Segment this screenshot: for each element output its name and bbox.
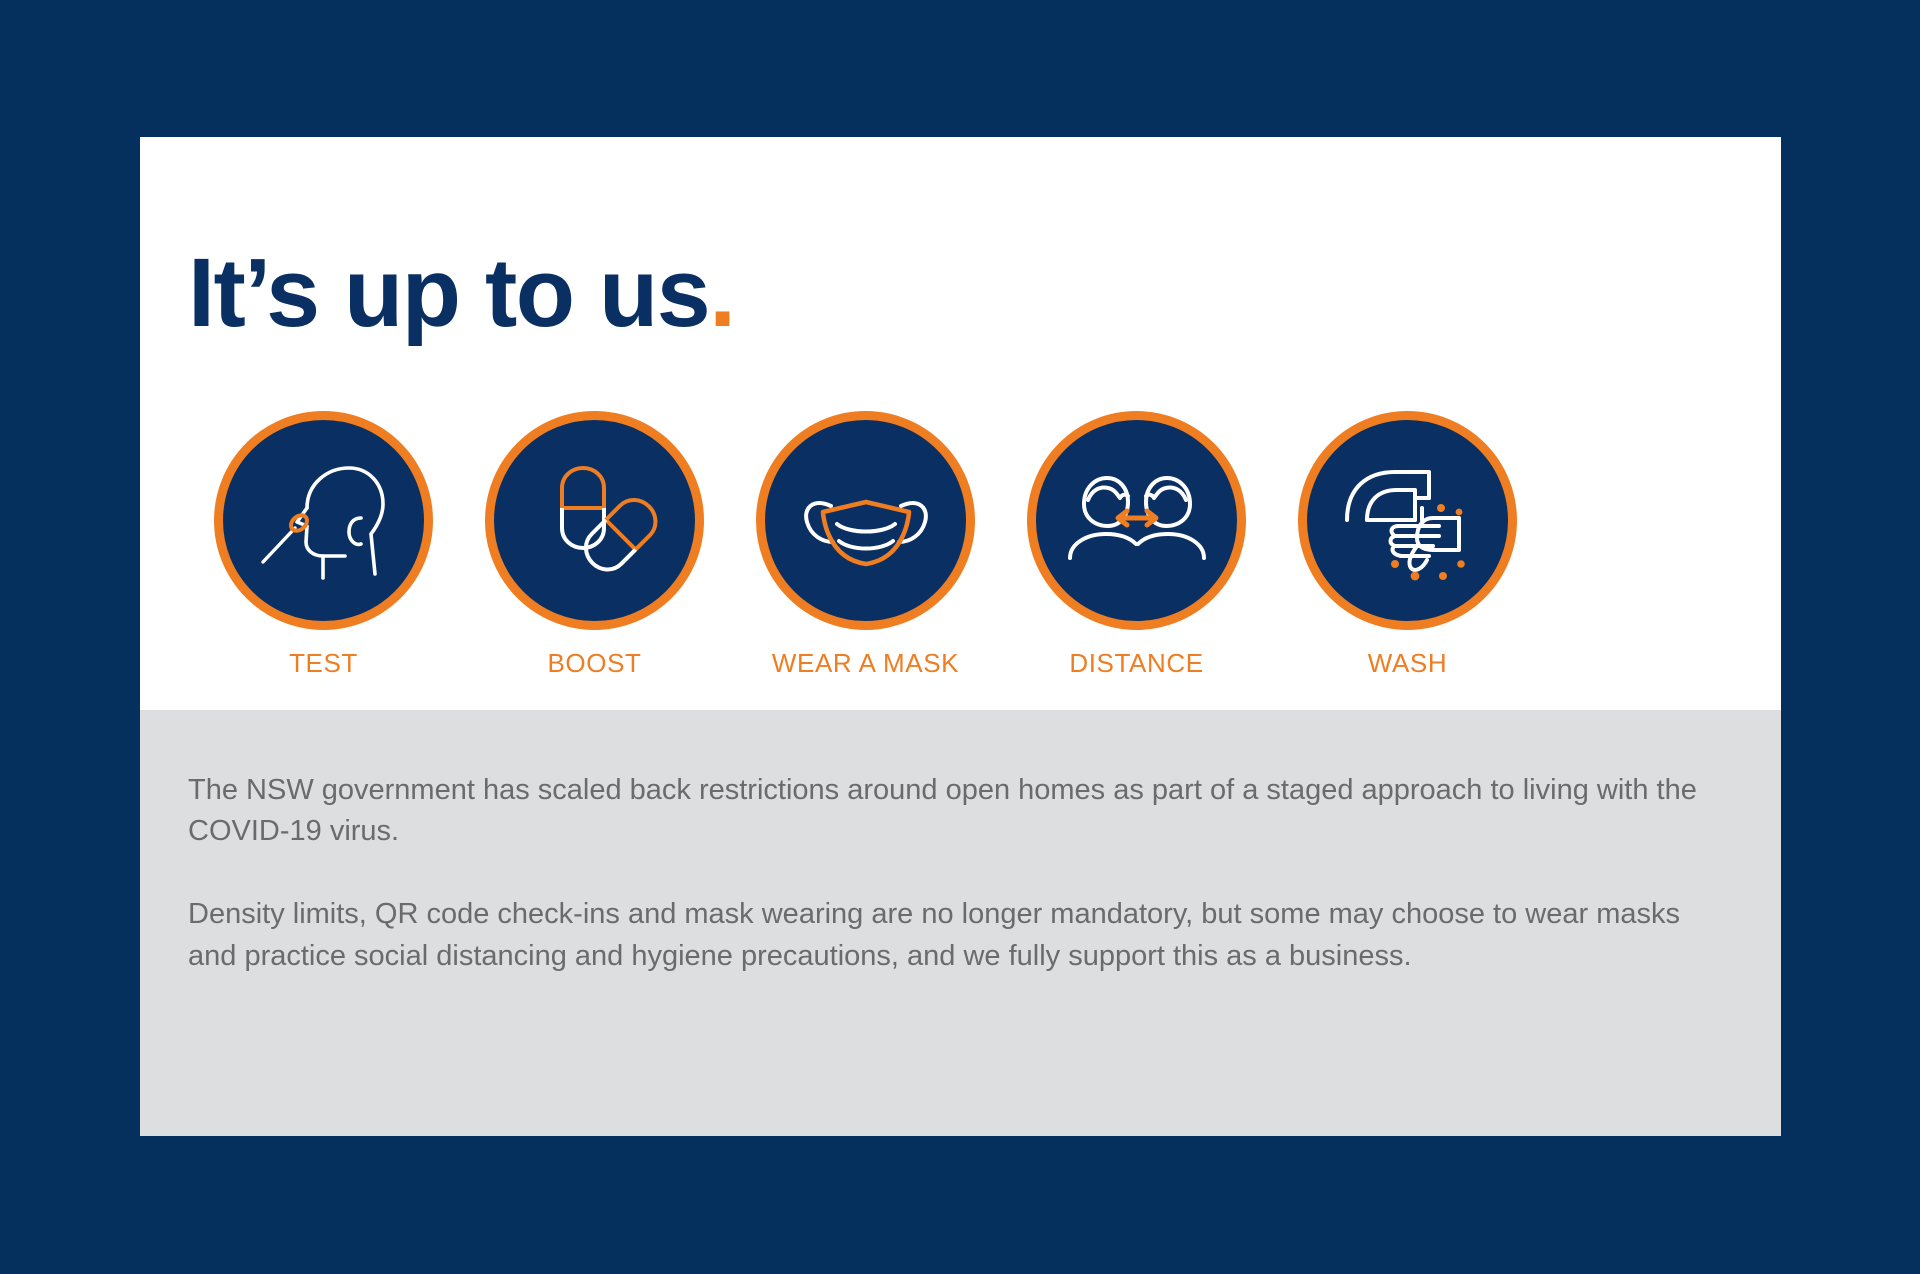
body-copy: The NSW government has scaled back restr…: [188, 770, 1725, 977]
icon-item-wear-a-mask: WEAR A MASK: [730, 411, 1001, 679]
poster-canvas: It’s up to us.: [0, 0, 1920, 1274]
hand-washing-tap-icon: [1333, 446, 1483, 596]
icon-label-wear-a-mask: WEAR A MASK: [772, 648, 959, 679]
icon-circle-distance: [1027, 411, 1246, 630]
icon-item-distance: DISTANCE: [1001, 411, 1272, 679]
icon-circle-test: [214, 411, 433, 630]
icon-label-test: TEST: [289, 648, 358, 679]
vaccine-capsules-icon: [520, 446, 670, 596]
icon-label-wash: WASH: [1368, 648, 1447, 679]
icon-item-test: TEST: [188, 411, 459, 679]
face-mask-icon: [791, 446, 941, 596]
covid-safe-icon-row: TEST: [188, 411, 1733, 679]
icon-item-wash: WASH: [1272, 411, 1543, 679]
icon-label-boost: BOOST: [547, 648, 641, 679]
body-paragraph-2: Density limits, QR code check-ins and ma…: [188, 894, 1725, 976]
info-panel: The NSW government has scaled back restr…: [140, 710, 1781, 1136]
page-title: It’s up to us.: [188, 244, 735, 341]
icon-circle-boost: [485, 411, 704, 630]
icon-circle-wash: [1298, 411, 1517, 630]
headline-text: It’s up to us: [188, 238, 709, 347]
nasal-swab-test-icon: [249, 446, 399, 596]
body-paragraph-1: The NSW government has scaled back restr…: [188, 770, 1725, 852]
icon-circle-wear-a-mask: [756, 411, 975, 630]
icon-label-distance: DISTANCE: [1069, 648, 1203, 679]
icon-item-boost: BOOST: [459, 411, 730, 679]
content-card: It’s up to us.: [140, 137, 1781, 1136]
headline-period: .: [709, 238, 734, 347]
social-distance-people-icon: [1062, 446, 1212, 596]
